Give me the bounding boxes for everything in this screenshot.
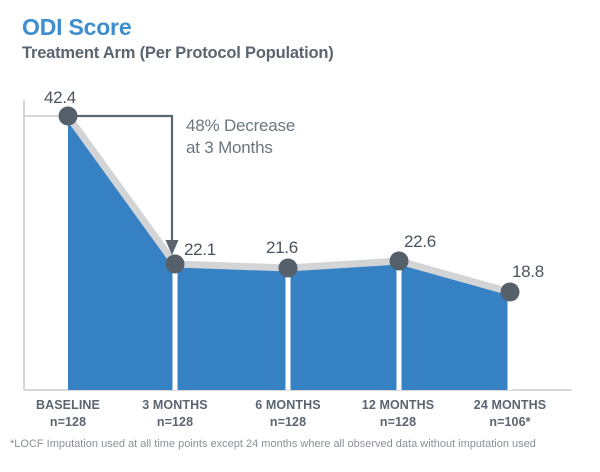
x-axis-category-3-months: 3 MONTHS n=128 (115, 398, 235, 429)
x-axis-category-12-months: 12 MONTHS n=128 (338, 398, 458, 429)
odi-score-chart: ODI Score Treatment Arm (Per Protocol Po… (0, 0, 600, 472)
category-label: 6 MONTHS (228, 398, 348, 412)
chart-footnote: *LOCF Imputation used at all time points… (10, 438, 536, 450)
category-sample-size: n=128 (115, 415, 235, 429)
category-label: 12 MONTHS (338, 398, 458, 412)
category-label: 3 MONTHS (115, 398, 235, 412)
category-label: 24 MONTHS (450, 398, 570, 412)
data-point-marker (59, 107, 78, 126)
data-label-3-months: 22.1 (184, 240, 216, 260)
category-label: BASELINE (8, 398, 128, 412)
category-sample-size: n=128 (228, 415, 348, 429)
category-sample-size: n=106* (450, 415, 570, 429)
data-point-marker (501, 283, 520, 302)
data-label-12-months: 22.6 (404, 232, 436, 252)
data-point-marker (390, 252, 409, 271)
x-axis-category-24-months: 24 MONTHS n=106* (450, 398, 570, 429)
decrease-annotation: 48% Decrease at 3 Months (186, 115, 295, 160)
decrease-annotation-line2: at 3 Months (186, 137, 295, 159)
data-label-6-months: 21.6 (266, 238, 298, 258)
data-label-24-months: 18.8 (512, 262, 544, 282)
x-axis-category-6-months: 6 MONTHS n=128 (228, 398, 348, 429)
data-point-marker (279, 259, 298, 278)
data-point-marker (166, 255, 185, 274)
x-axis-category-baseline: BASELINE n=128 (8, 398, 128, 429)
data-label-baseline: 42.4 (44, 88, 76, 108)
category-sample-size: n=128 (338, 415, 458, 429)
decrease-annotation-line1: 48% Decrease (186, 115, 295, 137)
category-sample-size: n=128 (8, 415, 128, 429)
